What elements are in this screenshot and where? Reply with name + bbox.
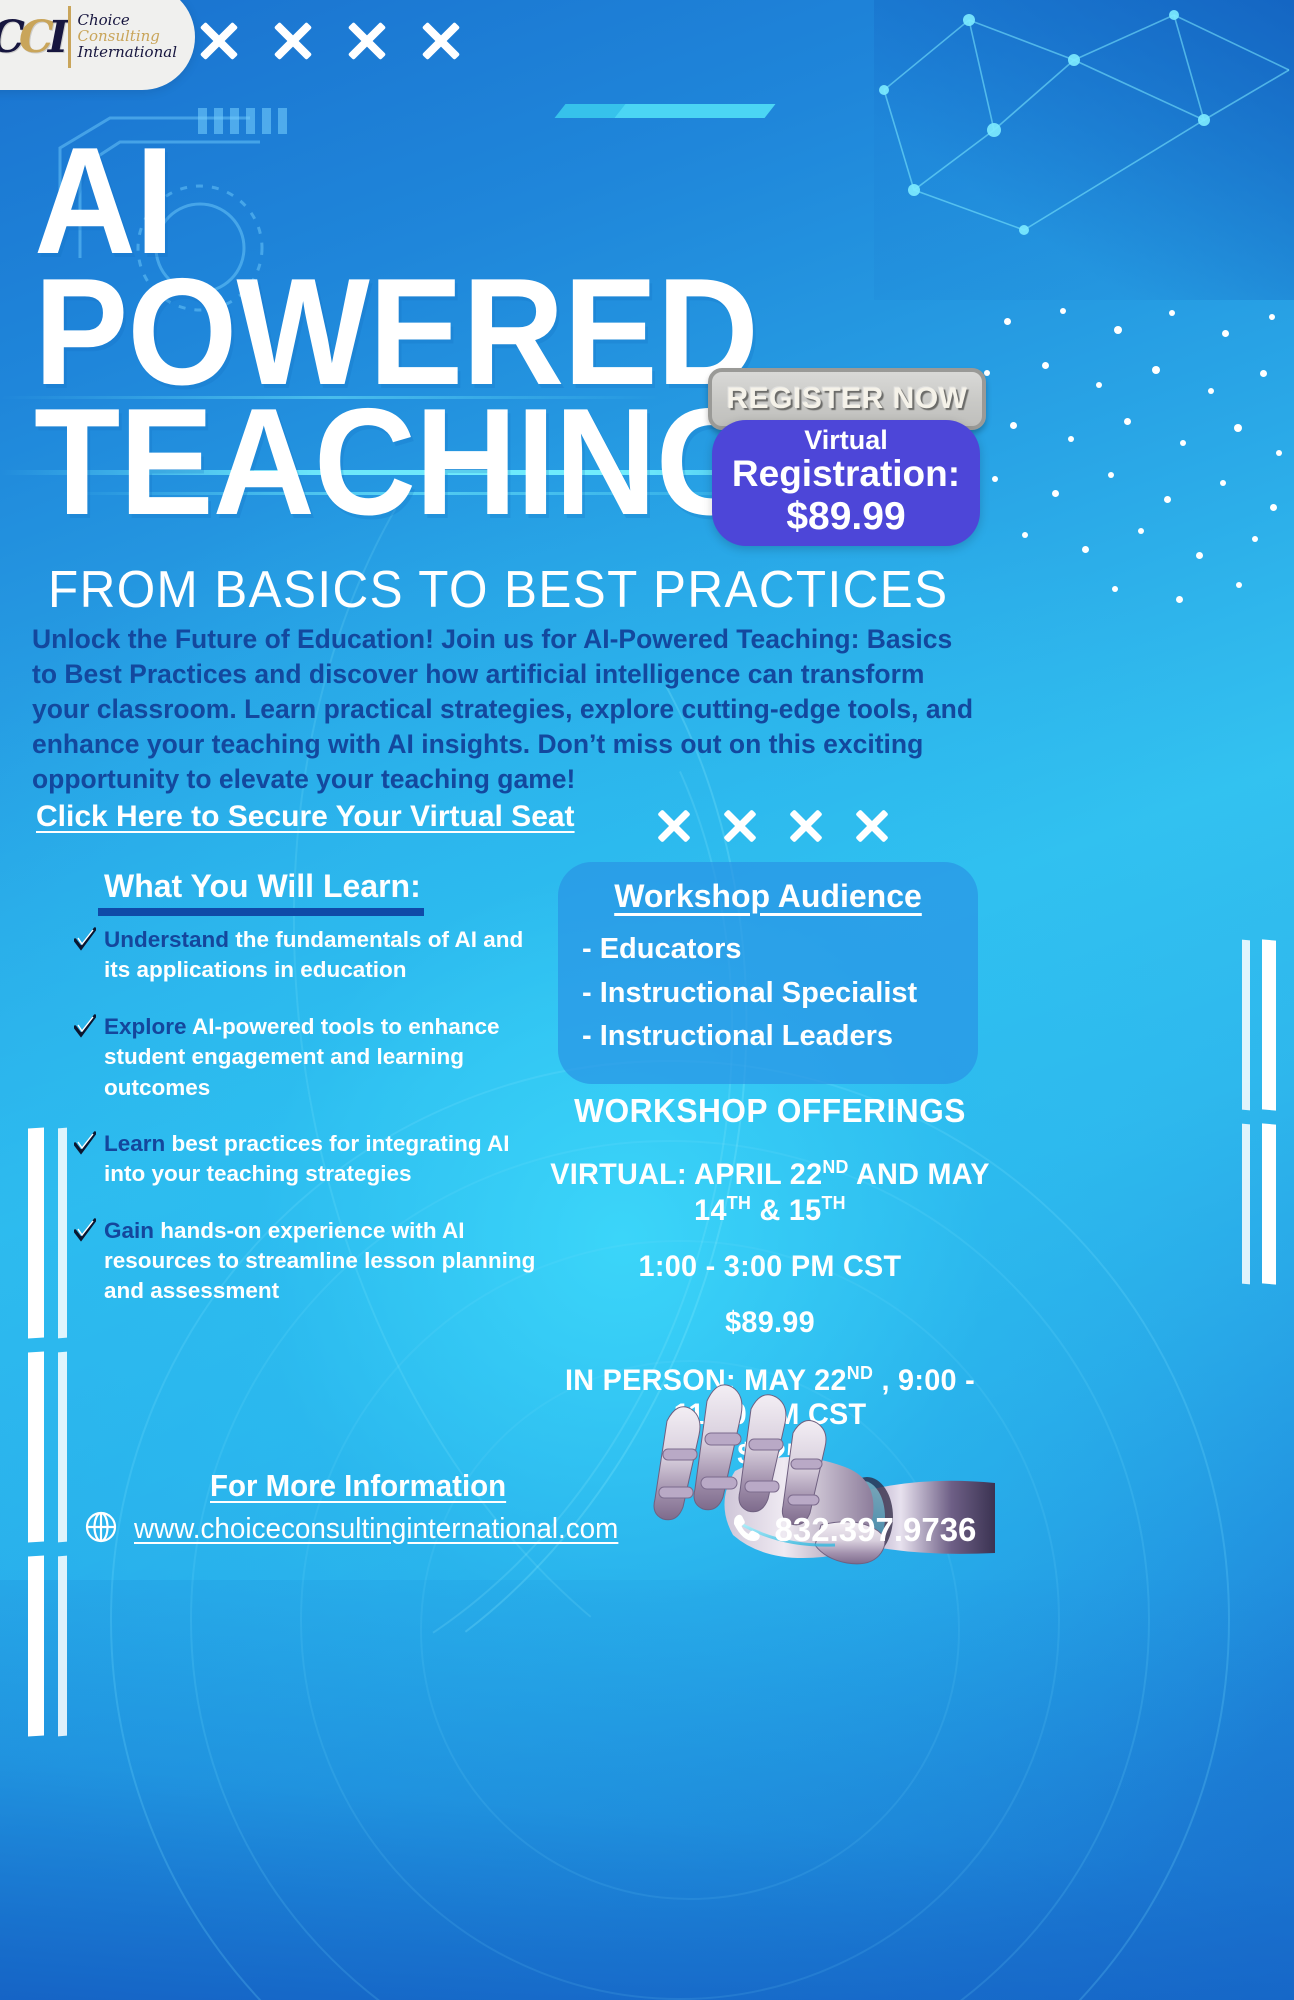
learn-heading: What You Will Learn: <box>104 868 421 905</box>
list-item-rest: hands-on experience with AI resources to… <box>104 1218 535 1304</box>
virtual-dates-post: & 15 <box>751 1194 821 1227</box>
page-subtitle: FROM BASICS TO BEST PRACTICES <box>48 560 949 620</box>
check-icon <box>74 1014 96 1040</box>
logo-divider <box>68 6 71 68</box>
check-icon <box>74 1131 96 1157</box>
list-item-keyword: Explore <box>104 1014 187 1039</box>
x-icon <box>418 18 464 64</box>
dot-cluster <box>964 300 1294 600</box>
list-item-keyword: Gain <box>104 1218 154 1243</box>
list-item: Gain hands-on experience with AI resourc… <box>74 1216 544 1307</box>
list-item-text: Understand the fundamentals of AI and it… <box>104 925 544 986</box>
x-icon <box>786 806 826 846</box>
badge-virtual-label: Virtual <box>804 426 888 454</box>
learn-list: Understand the fundamentals of AI and it… <box>74 925 544 1333</box>
x-icon <box>654 806 694 846</box>
offerings-heading: WORKSHOP OFFERINGS <box>530 1092 1010 1130</box>
learn-heading-rule <box>98 908 424 916</box>
x-decor-row-middle <box>654 806 918 846</box>
secure-seat-link[interactable]: Click Here to Secure Your Virtual Seat <box>36 800 575 834</box>
x-decor-row-top <box>196 18 492 64</box>
audience-item: - Instructional Leaders <box>576 1015 976 1059</box>
logo-word-international: International <box>77 45 177 61</box>
virtual-sup-2: TH <box>727 1192 751 1213</box>
offerings-virtual-time: 1:00 - 3:00 PM CST <box>530 1250 1010 1284</box>
list-item: Learn best practices for integrating AI … <box>74 1129 544 1190</box>
audience-list: - Educators - Instructional Specialist -… <box>576 928 976 1059</box>
offerings-virtual-price: $89.99 <box>530 1306 1010 1340</box>
x-icon <box>270 18 316 64</box>
check-icon <box>74 1218 96 1244</box>
register-button-label: REGISTER NOW <box>726 382 967 416</box>
list-item-text: Explore AI-powered tools to enhance stud… <box>104 1012 544 1103</box>
title-line-2: TEACHING: <box>34 397 741 528</box>
virtual-dates-pre: VIRTUAL: APRIL 22 <box>550 1158 822 1191</box>
network-lines-icon <box>874 0 1294 330</box>
phone-icon <box>731 1512 761 1547</box>
phone-number: 832.397.9736 <box>775 1511 977 1549</box>
audience-item: - Educators <box>576 928 976 972</box>
logo-wordmark: Choice Consulting International <box>77 13 177 60</box>
website-link[interactable]: www.choiceconsultinginternational.com <box>134 1513 618 1546</box>
list-item-keyword: Understand <box>104 927 229 952</box>
poster-canvas: CCI Choice Consulting International AI P… <box>0 0 1294 2000</box>
x-icon <box>196 18 242 64</box>
intro-paragraph: Unlock the Future of Education! Join us … <box>32 622 982 797</box>
brand-logo[interactable]: CCI Choice Consulting International <box>0 0 195 90</box>
list-item-text: Gain hands-on experience with AI resourc… <box>104 1216 544 1307</box>
list-item-rest: best practices for integrating AI into y… <box>104 1131 510 1186</box>
list-item-text: Learn best practices for integrating AI … <box>104 1129 544 1190</box>
virtual-sup-3: TH <box>821 1192 845 1213</box>
logo-monogram: CCI <box>0 12 62 63</box>
virtual-sup-1: ND <box>822 1156 848 1177</box>
audience-heading: Workshop Audience <box>592 878 944 915</box>
badge-price-value: $89.99 <box>786 495 905 540</box>
page-title: AI POWERED TEACHING: <box>34 136 741 528</box>
x-icon <box>852 806 892 846</box>
x-icon <box>720 806 760 846</box>
list-item: Understand the fundamentals of AI and it… <box>74 925 544 986</box>
x-icon <box>344 18 390 64</box>
title-line-1: AI POWERED <box>34 116 758 417</box>
footer-contact-row: www.choiceconsultinginternational.com 83… <box>84 1510 1214 1549</box>
check-icon <box>74 927 96 953</box>
phone-contact[interactable]: 832.397.9736 <box>731 1511 977 1549</box>
list-item: Explore AI-powered tools to enhance stud… <box>74 1012 544 1103</box>
list-item-keyword: Learn <box>104 1131 165 1156</box>
price-badge: Virtual Registration: $89.99 <box>712 420 980 546</box>
audience-item: - Instructional Specialist <box>576 972 976 1016</box>
badge-registration-label: Registration: <box>732 454 960 495</box>
more-info-heading: For More Information <box>210 1468 506 1504</box>
globe-icon <box>84 1510 118 1549</box>
offerings-virtual-dates: VIRTUAL: APRIL 22ND AND MAY 14TH & 15TH <box>530 1156 1010 1228</box>
